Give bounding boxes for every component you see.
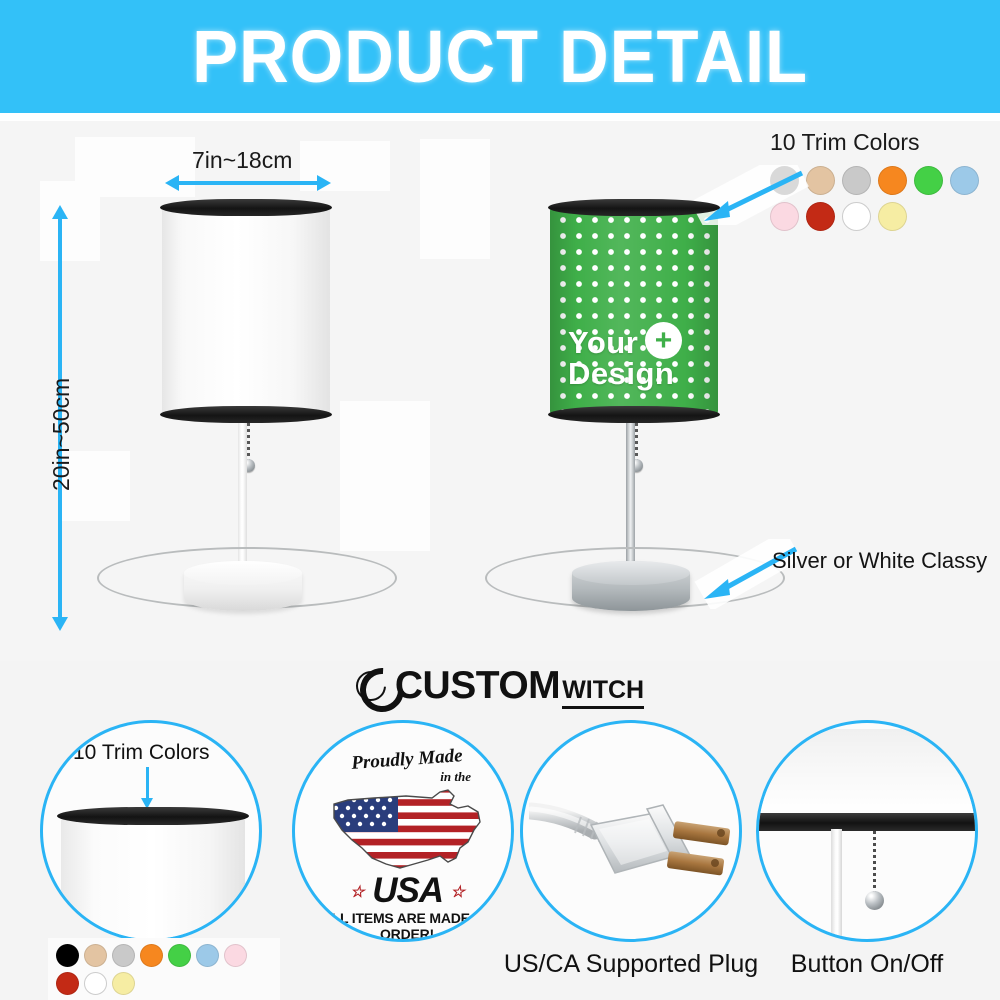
feature-circle	[520, 720, 742, 942]
base-top-surface	[184, 561, 302, 585]
design-line-2: Design	[568, 358, 674, 389]
switch-shade-preview	[756, 729, 978, 815]
trim-swatch-white[interactable]	[842, 202, 871, 231]
feature-trim-title: 10 Trim Colors	[73, 741, 210, 765]
trim-down-arrow-icon	[146, 767, 149, 799]
pull-chain[interactable]	[635, 417, 638, 463]
trim-pointer-arrow	[690, 165, 810, 225]
bg-patch	[340, 401, 430, 551]
page-title: PRODUCT DETAIL	[192, 14, 808, 99]
switch-trim-band	[756, 813, 978, 831]
brand-logo: CUSTOM WITCH	[0, 660, 1000, 712]
switch-pull-chain[interactable]	[873, 831, 876, 893]
usa-badge: Proudly Made in the	[317, 749, 497, 942]
feature-plug-caption: US/CA Supported Plug	[496, 950, 766, 979]
bg-patch	[40, 181, 100, 261]
pull-chain[interactable]	[247, 417, 250, 463]
feature-circle: 10 Trim Colors	[40, 720, 262, 942]
logo-word-witch: WITCH	[562, 676, 644, 705]
feature-circle: Proudly Made in the	[292, 720, 514, 942]
star-icon-left: ☆	[350, 884, 363, 901]
bottom-trim-swatch-row	[56, 944, 272, 995]
main-stage: 7in~18cm 20in~50cm	[0, 121, 1000, 661]
trim-swatch-tan[interactable]	[806, 166, 835, 195]
trim-swatch-light-blue[interactable]	[196, 944, 219, 967]
shade-trim-bottom	[548, 406, 720, 423]
trim-swatch-yellow[interactable]	[112, 972, 135, 995]
trim-swatch-gray[interactable]	[842, 166, 871, 195]
trim-swatch-yellow[interactable]	[878, 202, 907, 231]
width-dimension-label: 7in~18cm	[192, 147, 292, 174]
logo-word-custom: CUSTOM	[395, 664, 560, 708]
base-finish-callout: Silver or White Classy	[772, 548, 987, 574]
shade-trim-bottom	[160, 406, 332, 423]
trim-swatch-red[interactable]	[806, 202, 835, 231]
bottom-trim-swatch-panel	[48, 938, 280, 1000]
shade-trim-top	[160, 199, 332, 216]
usa-word-text: USA	[372, 871, 442, 910]
header-underline	[0, 113, 1000, 121]
white-lamp-base	[184, 561, 302, 611]
switch-pole	[831, 829, 842, 941]
feature-switch: Button On/Off	[756, 720, 996, 1000]
shade-trim-top	[548, 199, 720, 216]
logo-c-icon	[356, 667, 394, 705]
trim-swatch-gray[interactable]	[112, 944, 135, 967]
base-top-surface	[572, 561, 690, 585]
trim-swatch-green[interactable]	[914, 166, 943, 195]
design-lamp-shade[interactable]: Your Design +	[550, 207, 718, 415]
feature-switch-caption: Button On/Off	[746, 950, 988, 979]
feature-trim-band	[57, 807, 249, 825]
trim-swatch-orange[interactable]	[878, 166, 907, 195]
usa-badge-subtitle: ALL ITEMS ARE MADE TO ORDER!	[317, 910, 497, 942]
trim-swatch-black[interactable]	[56, 944, 79, 967]
height-dimension-label: 20in~50cm	[48, 378, 75, 491]
product-detail-infographic: PRODUCT DETAIL 7in~18cm 20in~50cm	[0, 0, 1000, 1000]
logo-underline	[562, 706, 644, 709]
add-design-plus-icon[interactable]: +	[645, 322, 682, 359]
trim-swatch-white[interactable]	[84, 972, 107, 995]
trim-swatch-light-blue[interactable]	[950, 166, 979, 195]
header-banner: PRODUCT DETAIL	[0, 0, 1000, 113]
design-shade-surface: Your Design +	[550, 207, 718, 415]
star-icon-right: ☆	[451, 884, 464, 901]
trim-swatch-tan[interactable]	[84, 944, 107, 967]
shade-shading	[162, 207, 330, 415]
usa-map-flag-icon	[328, 786, 486, 872]
feature-row: 10 Trim Colors Proudly Made in the	[0, 712, 1000, 1000]
trim-swatch-orange[interactable]	[140, 944, 163, 967]
trim-swatch-red[interactable]	[56, 972, 79, 995]
feature-shade-preview	[61, 815, 245, 942]
width-dimension-arrow	[178, 181, 318, 185]
trim-swatch-pink[interactable]	[224, 944, 247, 967]
trim-colors-title: 10 Trim Colors	[770, 129, 1000, 156]
trim-swatch-green[interactable]	[168, 944, 191, 967]
power-plug-icon	[529, 769, 739, 899]
white-lamp	[150, 195, 350, 625]
white-shade-surface	[162, 207, 330, 415]
feature-circle	[756, 720, 978, 942]
usa-badge-word: ☆ USA ☆	[317, 873, 497, 911]
silver-lamp-base	[572, 561, 690, 611]
switch-pull-chain-bead[interactable]	[865, 891, 884, 910]
feature-plug: US/CA Supported Plug	[520, 720, 760, 1000]
feature-made-in-usa: Proudly Made in the	[292, 720, 514, 942]
white-lamp-shade	[162, 207, 330, 415]
bg-patch	[420, 139, 490, 259]
